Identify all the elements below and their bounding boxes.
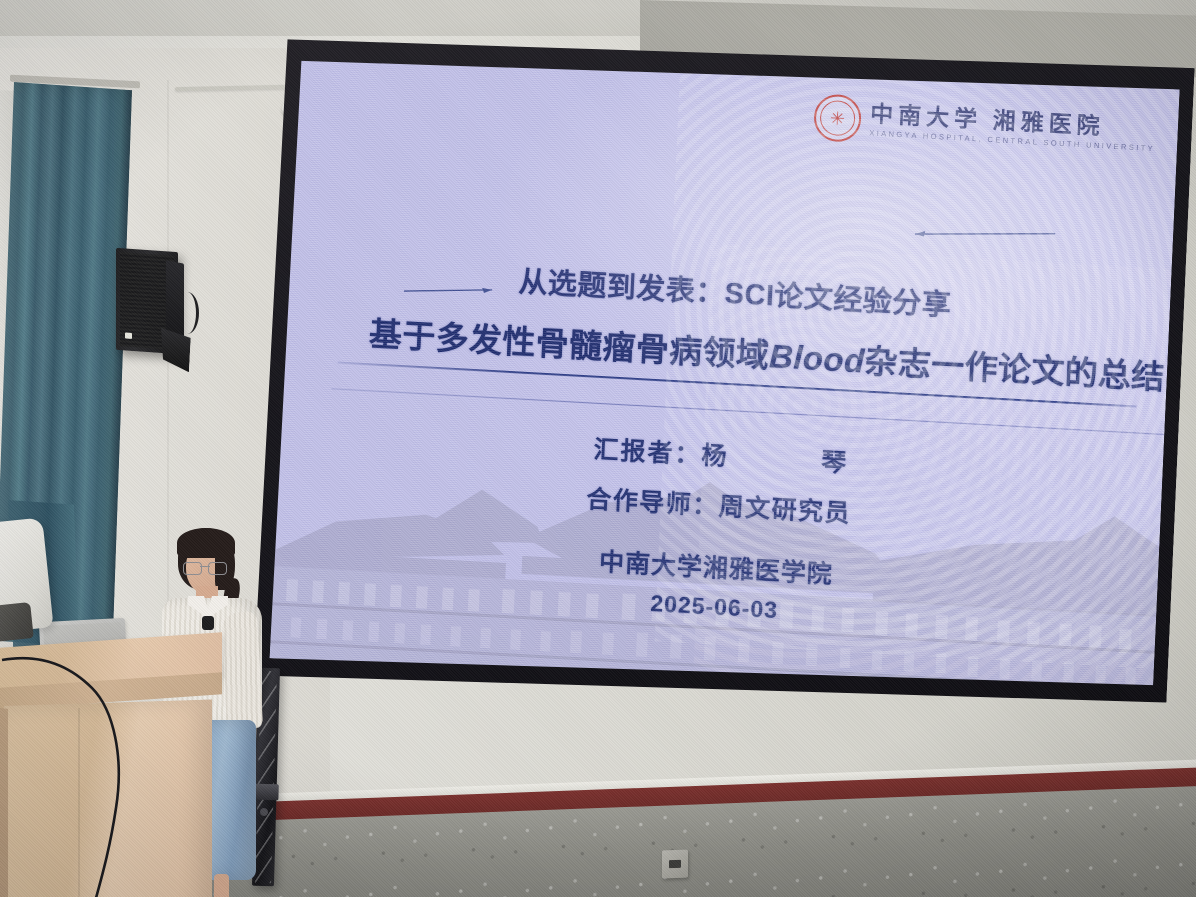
speaker-led-icon [125,332,132,338]
speaker-cable [176,292,199,334]
presentation-slide: ✳ 中南大学 湘雅医院 XIANGYA HOSPITAL, CENTRAL SO… [270,41,1180,707]
podium-body [4,699,212,897]
led-screen-assembly: ✳ 中南大学 湘雅医院 XIANGYA HOSPITAL, CENTRAL SO… [252,18,1196,768]
podium [0,648,222,897]
presenter-label: 汇报者： [593,436,702,470]
led-screen[interactable]: ✳ 中南大学 湘雅医院 XIANGYA HOSPITAL, CENTRAL SO… [270,41,1180,707]
subtitle-pre: 基于多发性骨髓瘤骨病领域 [368,315,770,374]
university-seal-icon: ✳ [813,93,862,143]
presenter-givenname: 琴 [821,448,849,477]
arrow-right-pointing-icon [404,283,500,290]
arrow-left-pointing-icon [905,225,1055,235]
wall-socket [662,850,688,879]
lapel-microphone-icon [202,616,214,630]
subtitle-journal-name: Blood [768,337,865,379]
eyeglasses-icon [183,562,227,573]
podium-side-panel [0,707,8,897]
foreground-object-dark [0,602,34,642]
presenter-surname: 杨 [701,436,822,479]
subtitle-post: 杂志一作论文的总结 [864,342,1166,395]
slide-title-main: 从选题到发表：SCI论文经验分享 [518,258,953,324]
lecture-hall-photo: ✳ 中南大学 湘雅医院 XIANGYA HOSPITAL, CENTRAL SO… [0,0,1196,897]
right-arm [221,611,263,729]
mentor-name: 周文研究员 [718,493,852,528]
mentor-label: 合作导师： [586,485,720,520]
logo-text-block: 中南大学 湘雅医院 XIANGYA HOSPITAL, CENTRAL SOUT… [869,102,1156,153]
seal-glyph: ✳ [830,109,846,128]
podium-seam [78,708,80,897]
university-logo: ✳ 中南大学 湘雅医院 XIANGYA HOSPITAL, CENTRAL SO… [813,93,1157,159]
